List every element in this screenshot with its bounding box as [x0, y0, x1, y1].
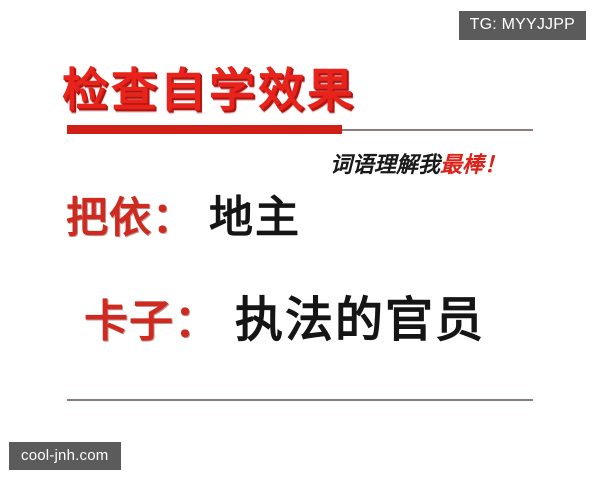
footer-divider	[67, 399, 533, 401]
vocabulary-gloss: 地主	[209, 192, 301, 243]
page-title: 检查自学效果	[62, 62, 356, 118]
subtitle: 词语理解我最棒！	[330, 152, 506, 180]
site-watermark-badge: cool-jnh.com	[9, 442, 121, 470]
vocabulary-term: 卡子：	[84, 296, 219, 347]
vocabulary-term: 把依：	[66, 193, 195, 242]
title-divider	[67, 125, 533, 134]
vocabulary-gloss: 执法的官员	[235, 292, 485, 348]
title-divider-thin-segment	[342, 129, 533, 131]
vocabulary-row: 把依：地主	[66, 196, 301, 240]
subtitle-lead-text: 词语理解我	[330, 153, 440, 178]
slide-canvas: TG: MYYJJPP 检查自学效果 词语理解我最棒！ 把依：地主 卡子：执法的…	[0, 0, 600, 480]
vocabulary-row: 卡子：执法的官员	[84, 296, 485, 344]
title-divider-thick-segment	[67, 125, 342, 134]
telegram-watermark-badge: TG: MYYJJPP	[459, 11, 586, 40]
subtitle-accent-text: 最棒！	[440, 153, 506, 178]
